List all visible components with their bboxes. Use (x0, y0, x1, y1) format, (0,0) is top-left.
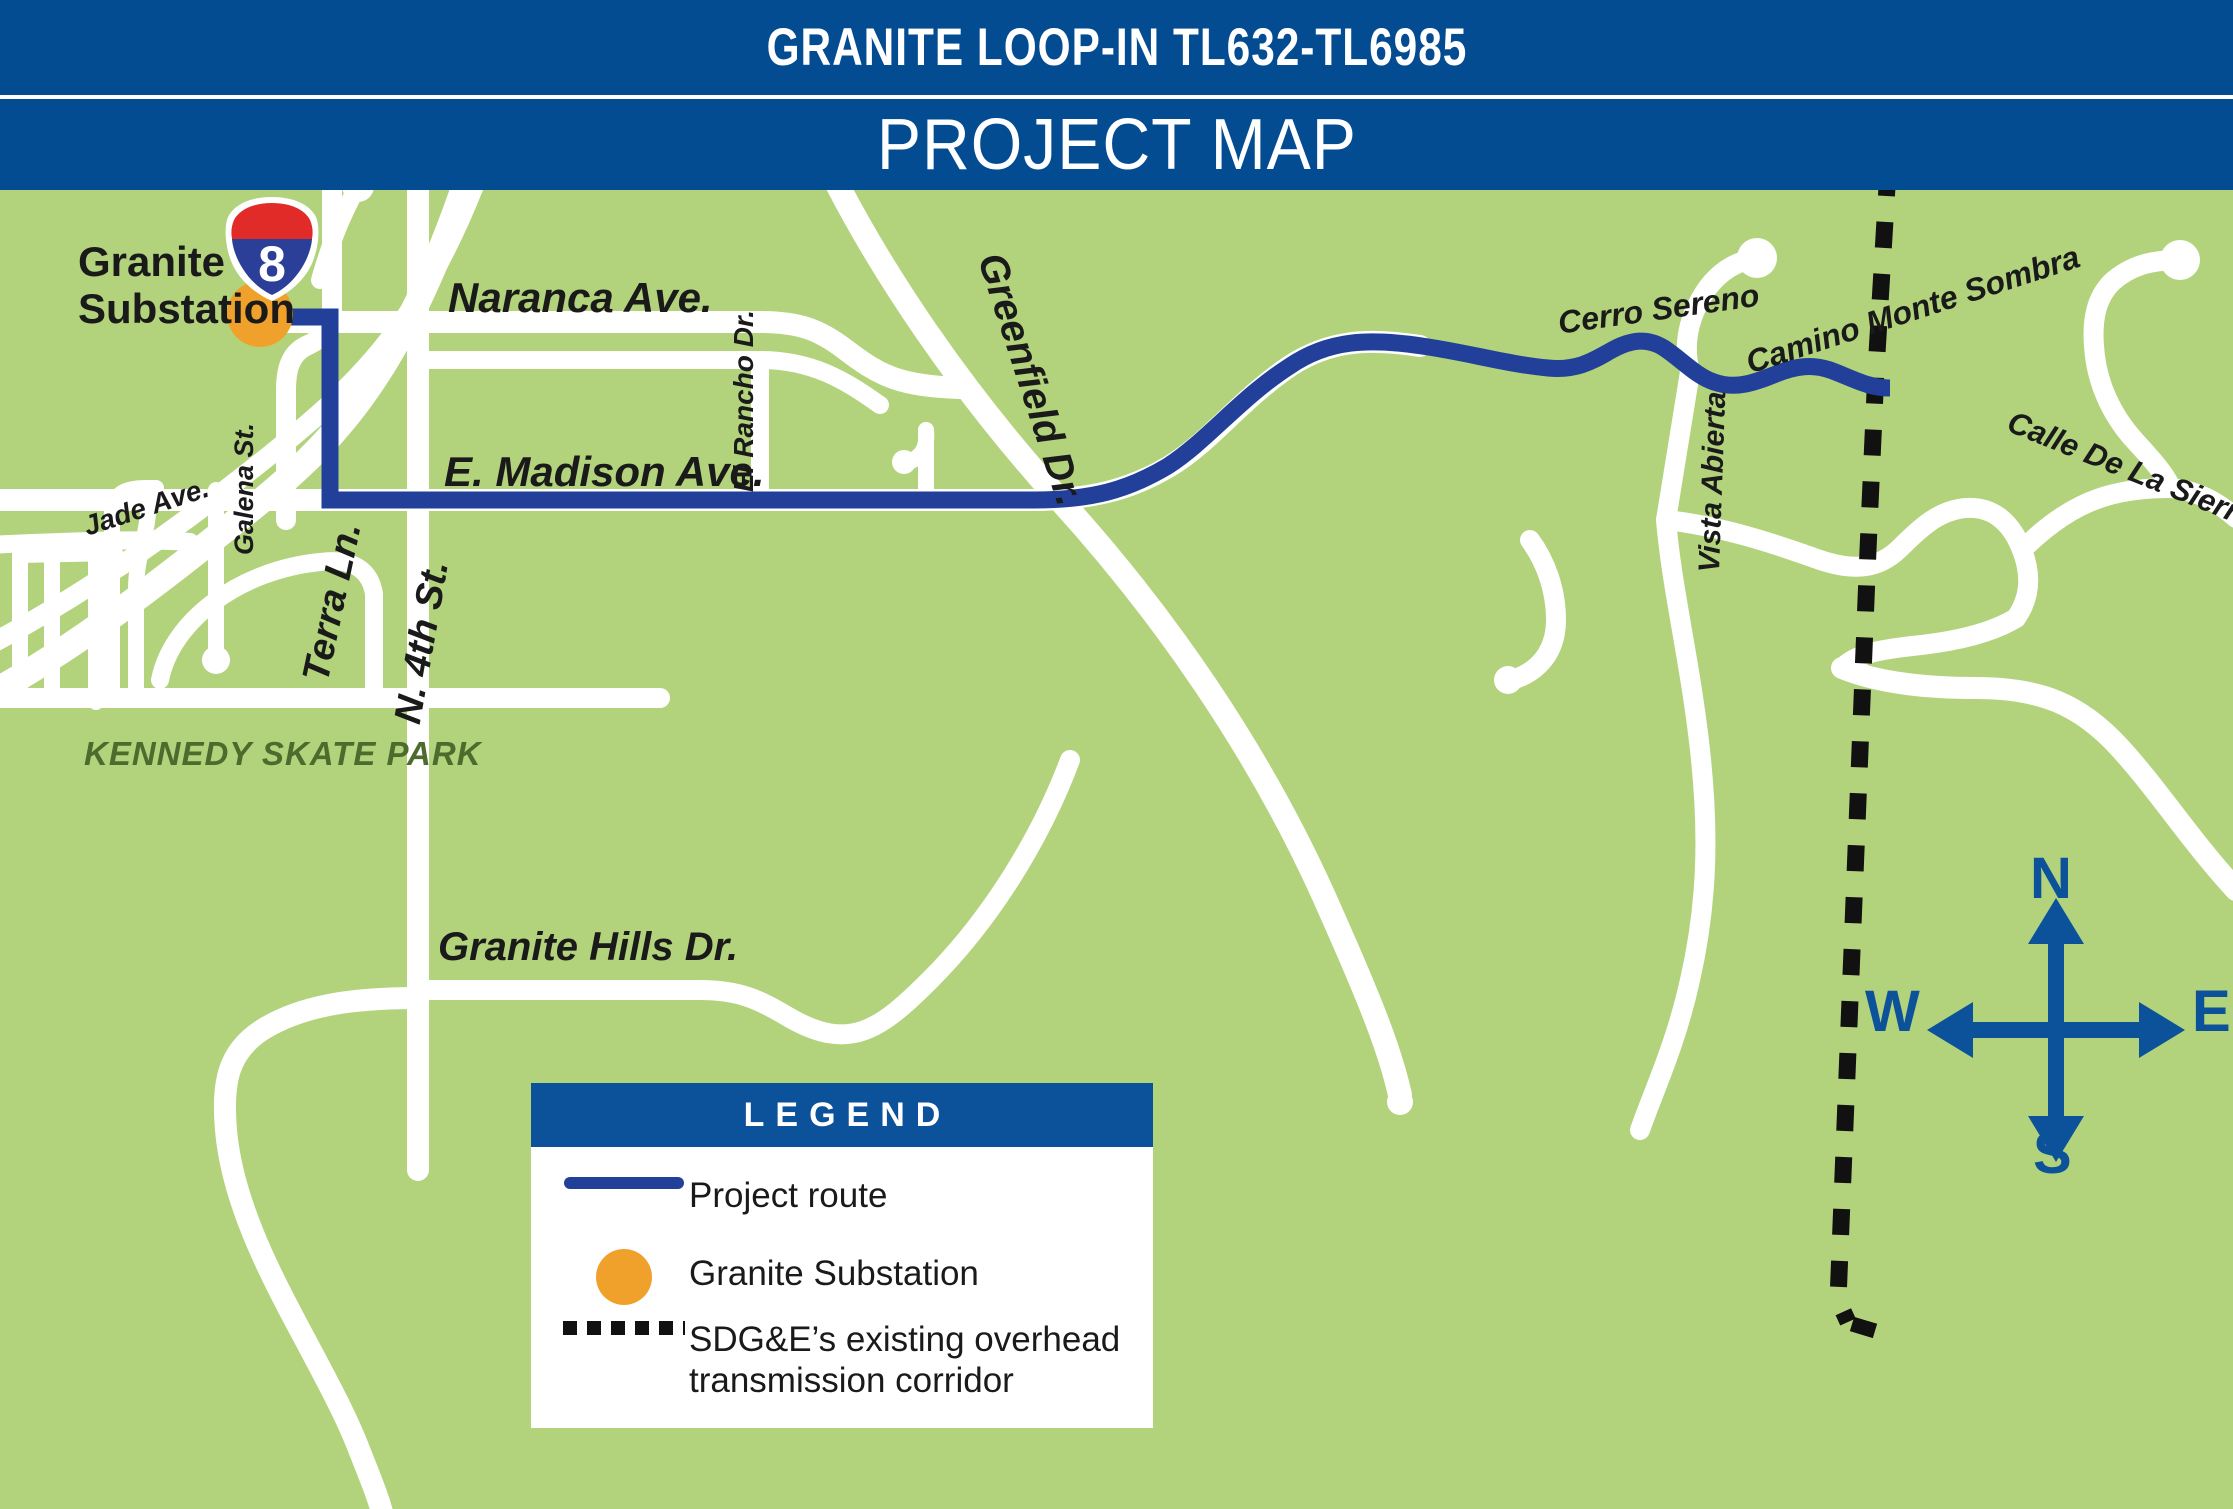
label-granite-hills-dr: Granite Hills Dr. (438, 926, 738, 968)
substation-swatch (559, 1245, 689, 1305)
compass-rose: N S W E (1905, 860, 2205, 1190)
legend-item-project-route: Project route (531, 1173, 1153, 1235)
page-subtitle: PROJECT MAP (876, 104, 1356, 186)
legend-item-substation: Granite Substation (531, 1245, 1153, 1307)
page-title: GRANITE LOOP-IN TL632-TL6985 (766, 17, 1467, 78)
subtitle-band: PROJECT MAP (0, 99, 2233, 190)
legend-header: LEGEND (531, 1083, 1153, 1147)
legend-box: LEGEND Project route Granite Substation … (531, 1083, 1153, 1428)
route-line-icon (564, 1177, 684, 1189)
compass-label-east: E (2192, 978, 2231, 1045)
cul-de-sac-galena (202, 646, 230, 674)
label-e-madison-ave: E. Madison Ave. (444, 450, 765, 494)
compass-label-west: W (1865, 978, 1920, 1045)
label-galena-st: Galena St. (230, 423, 258, 555)
cul-de-sac-stub-upper (892, 450, 916, 474)
shield-number: 8 (258, 236, 286, 292)
dotted-line-icon (563, 1321, 685, 1335)
cul-de-sac-hook-west (1494, 666, 1522, 694)
legend-label-substation: Granite Substation (689, 1245, 979, 1294)
legend-title: LEGEND (733, 1096, 952, 1135)
interstate-8-shield: 8 (222, 190, 322, 309)
corridor-swatch (559, 1317, 689, 1335)
compass-label-north: N (2030, 845, 2072, 912)
compass-horizontal-shaft (1950, 1022, 2162, 1038)
legend-label-project-route: Project route (689, 1173, 887, 1216)
page-header: GRANITE LOOP-IN TL632-TL6985 PROJECT MAP (0, 0, 2233, 190)
compass-west-arrow (1927, 1002, 1973, 1058)
compass-label-south: S (2033, 1120, 2072, 1187)
substation-dot-icon (596, 1249, 652, 1305)
legend-item-corridor: SDG&E’s existing overhead transmission c… (531, 1317, 1153, 1402)
compass-east-arrow (2139, 1002, 2185, 1058)
legend-label-corridor: SDG&E’s existing overhead transmission c… (689, 1317, 1153, 1402)
title-band: GRANITE LOOP-IN TL632-TL6985 (0, 0, 2233, 94)
label-kennedy-skate-park: KENNEDY SKATE PARK (84, 737, 482, 772)
project-route-swatch (559, 1173, 689, 1189)
label-vista-abierta: Vista Abierta (1694, 391, 1732, 573)
legend-items: Project route Granite Substation SDG&E’s… (531, 1147, 1153, 1428)
label-el-rancho-dr: El Rancho Dr. (729, 310, 758, 492)
label-naranca-ave: Naranca Ave. (448, 276, 713, 320)
greenfield-dr-end (1387, 1089, 1413, 1115)
project-map-page: GRANITE LOOP-IN TL632-TL6985 PROJECT MAP (0, 0, 2233, 1509)
